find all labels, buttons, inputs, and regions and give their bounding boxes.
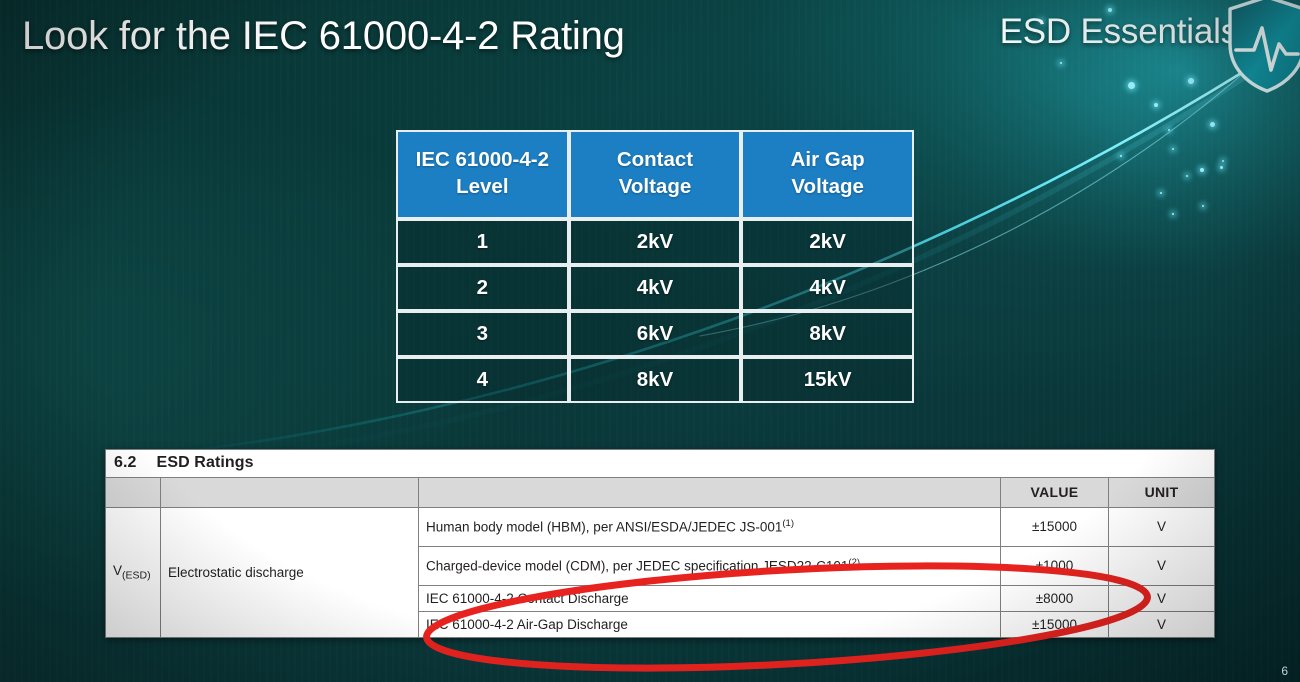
- symbol-subscript: (ESD): [122, 569, 151, 581]
- datasheet-excerpt: 6.2ESD Ratings VALUE UNIT V(ESD) Ele: [105, 449, 1215, 638]
- table-row: V(ESD) Electrostatic discharge Human bod…: [106, 508, 1215, 547]
- footnote-ref: (1): [782, 518, 794, 529]
- glow-particle: [1128, 82, 1135, 89]
- brand-title: ESD Essentials: [1000, 12, 1238, 52]
- iec-header-airgap-line1: Air Gap: [791, 148, 865, 171]
- ds-unit: V: [1109, 508, 1215, 547]
- ds-unit: V: [1109, 612, 1215, 638]
- glow-particle: [1220, 166, 1223, 169]
- iec-header-airgap-line2: Voltage: [791, 175, 864, 198]
- datasheet-section-heading: 6.2ESD Ratings: [105, 449, 1215, 477]
- symbol-letter: V: [113, 563, 122, 578]
- glow-particle: [1202, 205, 1204, 207]
- iec-header-contact: Contact Voltage: [569, 130, 742, 219]
- ds-symbol-vesd: V(ESD): [106, 508, 161, 638]
- page-title: Look for the IEC 61000-4-2 Rating: [22, 14, 625, 59]
- presentation-slide: Look for the IEC 61000-4-2 Rating ESD Es…: [0, 0, 1300, 682]
- footnote-ref: (2): [848, 557, 860, 568]
- iec-header-airgap: Air Gap Voltage: [741, 130, 914, 219]
- ds-value: ±1000: [1001, 547, 1109, 586]
- ds-header-unit: UNIT: [1109, 478, 1215, 508]
- iec-cell-airgap: 4kV: [741, 265, 914, 311]
- iec-cell-airgap: 15kV: [741, 357, 914, 403]
- ds-condition-cdm: Charged-device model (CDM), per JEDEC sp…: [419, 547, 1001, 586]
- ds-header-parameter: [161, 478, 419, 508]
- iec-cell-level: 4: [396, 357, 569, 403]
- glow-particle: [1222, 160, 1224, 162]
- ds-header-value: VALUE: [1001, 478, 1109, 508]
- ds-condition-hbm: Human body model (HBM), per ANSI/ESDA/JE…: [419, 508, 1001, 547]
- iec-cell-contact: 4kV: [569, 265, 742, 311]
- ds-condition-airgap-discharge: IEC 61000-4-2 Air-Gap Discharge: [419, 612, 1001, 638]
- ds-value: ±15000: [1001, 612, 1109, 638]
- iec-cell-level: 3: [396, 311, 569, 357]
- ds-value: ±15000: [1001, 508, 1109, 547]
- table-row: 4 8kV 15kV: [396, 357, 914, 403]
- glow-particle: [1160, 192, 1162, 194]
- ds-header-symbol: [106, 478, 161, 508]
- glow-particle: [1172, 213, 1174, 215]
- iec-header-level-line1: IEC 61000-4-2: [416, 148, 549, 171]
- iec-cell-level: 2: [396, 265, 569, 311]
- iec-level-table: IEC 61000-4-2 Level Contact Voltage Air …: [396, 130, 914, 403]
- ds-condition-contact-discharge: IEC 61000-4-2 Contact Discharge: [419, 586, 1001, 612]
- iec-header-level: IEC 61000-4-2 Level: [396, 130, 569, 219]
- glow-particle: [1186, 175, 1188, 177]
- iec-cell-airgap: 8kV: [741, 311, 914, 357]
- table-row: 3 6kV 8kV: [396, 311, 914, 357]
- iec-cell-contact: 8kV: [569, 357, 742, 403]
- esd-ratings-table: VALUE UNIT V(ESD) Electrostatic discharg…: [105, 477, 1215, 638]
- iec-cell-level: 1: [396, 219, 569, 265]
- glow-particle: [1172, 148, 1174, 150]
- ds-condition-text: Human body model (HBM), per ANSI/ESDA/JE…: [426, 519, 782, 534]
- iec-cell-contact: 2kV: [569, 219, 742, 265]
- iec-header-level-line2: Level: [456, 175, 508, 198]
- iec-cell-contact: 6kV: [569, 311, 742, 357]
- datasheet-header-row: VALUE UNIT: [106, 478, 1215, 508]
- ds-parameter-name: Electrostatic discharge: [161, 508, 419, 638]
- section-title: ESD Ratings: [157, 454, 254, 471]
- ds-header-condition: [419, 478, 1001, 508]
- table-row: 1 2kV 2kV: [396, 219, 914, 265]
- page-number: 6: [1281, 664, 1288, 678]
- glow-particle: [1188, 78, 1194, 84]
- iec-table-header-row: IEC 61000-4-2 Level Contact Voltage Air …: [396, 130, 914, 219]
- iec-header-contact-line1: Contact: [617, 148, 693, 171]
- ds-unit: V: [1109, 586, 1215, 612]
- section-number: 6.2: [114, 454, 137, 471]
- table-row: 2 4kV 4kV: [396, 265, 914, 311]
- glow-particle: [1168, 129, 1170, 131]
- glow-particle: [1200, 168, 1204, 172]
- iec-header-contact-line2: Voltage: [619, 175, 692, 198]
- glow-particle: [1154, 103, 1158, 107]
- shield-pulse-icon: [1224, 0, 1300, 94]
- glow-particle: [1120, 155, 1122, 157]
- ds-unit: V: [1109, 547, 1215, 586]
- ds-value: ±8000: [1001, 586, 1109, 612]
- iec-cell-airgap: 2kV: [741, 219, 914, 265]
- glow-particle: [1210, 122, 1215, 127]
- glow-particle: [1060, 62, 1062, 64]
- ds-condition-text: Charged-device model (CDM), per JEDEC sp…: [426, 558, 848, 573]
